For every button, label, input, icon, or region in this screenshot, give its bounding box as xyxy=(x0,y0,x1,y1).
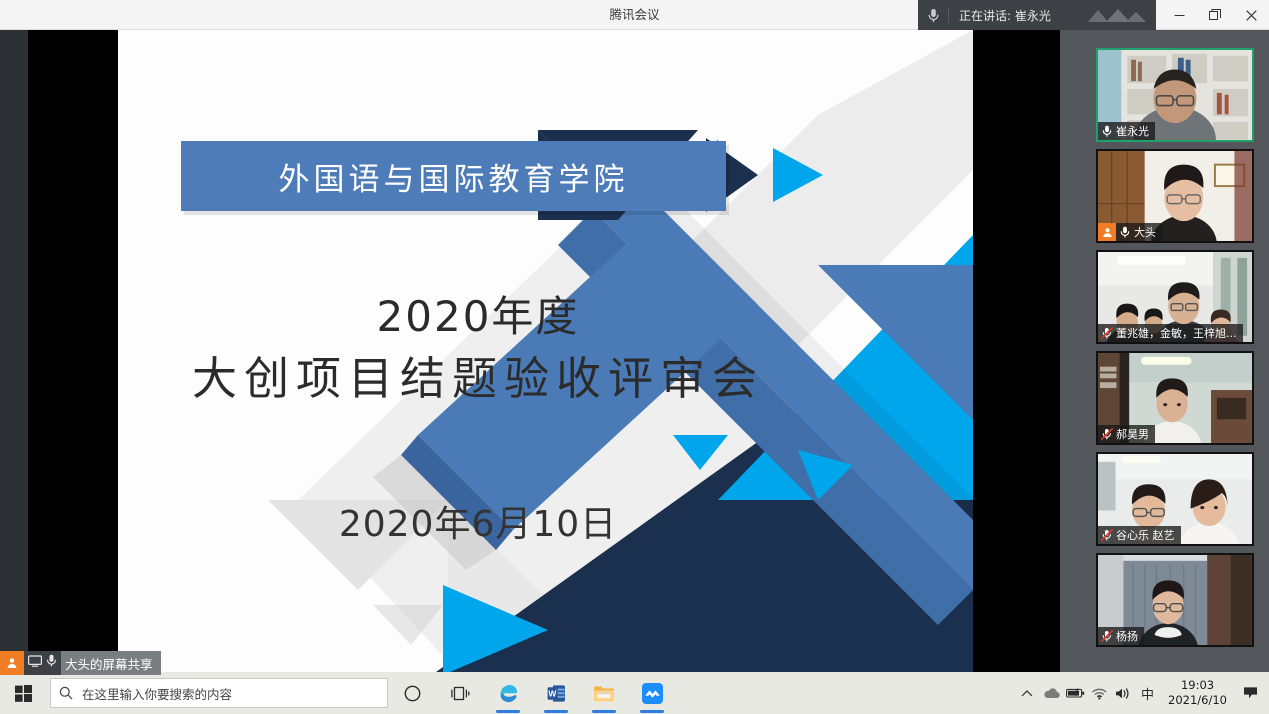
slide-title-line2: 大创项目结题验收评审会 xyxy=(118,342,838,407)
mic-muted-icon xyxy=(1098,425,1115,443)
participant-tile[interactable]: 郝昊男 xyxy=(1096,351,1254,445)
slide-banner: 外国语与国际教育学院 xyxy=(181,141,726,211)
audio-wave-icon xyxy=(1086,6,1146,24)
divider xyxy=(948,7,949,23)
participant-name: 谷心乐 赵艺 xyxy=(1115,527,1181,543)
show-hidden-icons-chevron[interactable] xyxy=(1015,672,1039,714)
participant-tile[interactable]: 董兆雄，金敏，王梓旭... xyxy=(1096,250,1254,344)
search-placeholder: 在这里输入你要搜索的内容 xyxy=(82,684,232,703)
mic-on-icon xyxy=(1098,122,1115,140)
windows-start-icon[interactable] xyxy=(0,672,46,714)
search-icon xyxy=(59,686,73,700)
participant-name-bar: 谷心乐 赵艺 xyxy=(1098,526,1181,544)
system-tray: 中 19:03 2021/6/10 xyxy=(1015,672,1269,714)
participant-name: 崔永光 xyxy=(1115,123,1155,139)
mic-muted-icon xyxy=(1098,627,1115,645)
slide-date: 2020年6月10日 xyxy=(118,495,838,547)
participant-name: 大头 xyxy=(1133,224,1162,240)
mic-icon xyxy=(918,8,948,23)
taskbar-clock[interactable]: 19:03 2021/6/10 xyxy=(1160,678,1235,707)
participant-tile[interactable]: 崔永光 xyxy=(1096,48,1254,142)
battery-icon[interactable] xyxy=(1063,672,1087,714)
close-button[interactable] xyxy=(1233,0,1269,30)
title-bar: 腾讯会议 正在讲话: 崔永光 xyxy=(0,0,1269,30)
minimize-button[interactable] xyxy=(1161,0,1197,30)
participant-name-bar: 大头 xyxy=(1098,223,1162,241)
participant-name-bar: 崔永光 xyxy=(1098,122,1155,140)
shared-screen-stage[interactable]: 外国语与国际教育学院 2020年度 大创项目结题验收评审会 2020年6月10日… xyxy=(0,30,1060,672)
windows-taskbar: 在这里输入你要搜索的内容 W xyxy=(0,672,1269,714)
mic-muted-icon xyxy=(1098,526,1115,544)
host-person-icon xyxy=(0,651,24,675)
participant-tile[interactable]: 大头 xyxy=(1096,149,1254,243)
window-controls xyxy=(1161,0,1269,30)
slide-title-line1: 2020年度 xyxy=(118,283,838,344)
mic-on-icon xyxy=(1116,223,1133,241)
participant-name-bar: 董兆雄，金敏，王梓旭... xyxy=(1098,324,1243,342)
wifi-icon[interactable] xyxy=(1087,672,1111,714)
participant-rail-inner: 崔永光 xyxy=(1060,30,1269,672)
clock-time: 19:03 xyxy=(1181,678,1214,693)
speaking-label: 正在讲话: 崔永光 xyxy=(959,7,1051,24)
tencent-meeting-window: 腾讯会议 正在讲话: 崔永光 xyxy=(0,0,1269,714)
search-input[interactable]: 在这里输入你要搜索的内容 xyxy=(50,678,388,708)
host-person-icon xyxy=(1098,223,1116,241)
participant-rail[interactable]: 崔永光 xyxy=(1060,30,1269,672)
slide-banner-text: 外国语与国际教育学院 xyxy=(279,154,629,199)
shared-slide: 外国语与国际教育学院 2020年度 大创项目结题验收评审会 2020年6月10日 xyxy=(118,30,973,672)
task-view-icon[interactable] xyxy=(436,672,484,714)
participant-tile[interactable]: 谷心乐 赵艺 xyxy=(1096,452,1254,546)
onedrive-icon[interactable] xyxy=(1039,672,1063,714)
maximize-button[interactable] xyxy=(1197,0,1233,30)
svg-text:W: W xyxy=(548,688,557,698)
mic-icon xyxy=(46,654,57,672)
ime-indicator[interactable]: 中 xyxy=(1135,684,1160,703)
participant-name: 杨扬 xyxy=(1115,628,1144,644)
participant-name-bar: 郝昊男 xyxy=(1098,425,1155,443)
share-badge-label: 大头的屏幕共享 xyxy=(61,654,161,673)
word-icon[interactable]: W xyxy=(532,672,580,714)
participant-name-bar: 杨扬 xyxy=(1098,627,1144,645)
clock-date: 2021/6/10 xyxy=(1168,693,1227,708)
cortana-icon[interactable] xyxy=(388,672,436,714)
participant-name: 董兆雄，金敏，王梓旭... xyxy=(1115,325,1243,341)
mic-muted-icon xyxy=(1098,324,1115,342)
participant-name: 郝昊男 xyxy=(1115,426,1155,442)
active-speaker-indicator: 正在讲话: 崔永光 xyxy=(918,0,1156,30)
stage-left-rail xyxy=(0,30,28,672)
tencent-meeting-icon[interactable] xyxy=(628,672,676,714)
share-status-icons xyxy=(24,651,61,675)
edge-icon[interactable] xyxy=(484,672,532,714)
action-center-icon[interactable] xyxy=(1235,672,1265,714)
participant-tile[interactable]: 杨扬 xyxy=(1096,553,1254,647)
screen-share-badge: 大头的屏幕共享 xyxy=(0,651,161,675)
monitor-icon xyxy=(28,654,42,672)
file-explorer-icon[interactable] xyxy=(580,672,628,714)
volume-icon[interactable] xyxy=(1111,672,1135,714)
